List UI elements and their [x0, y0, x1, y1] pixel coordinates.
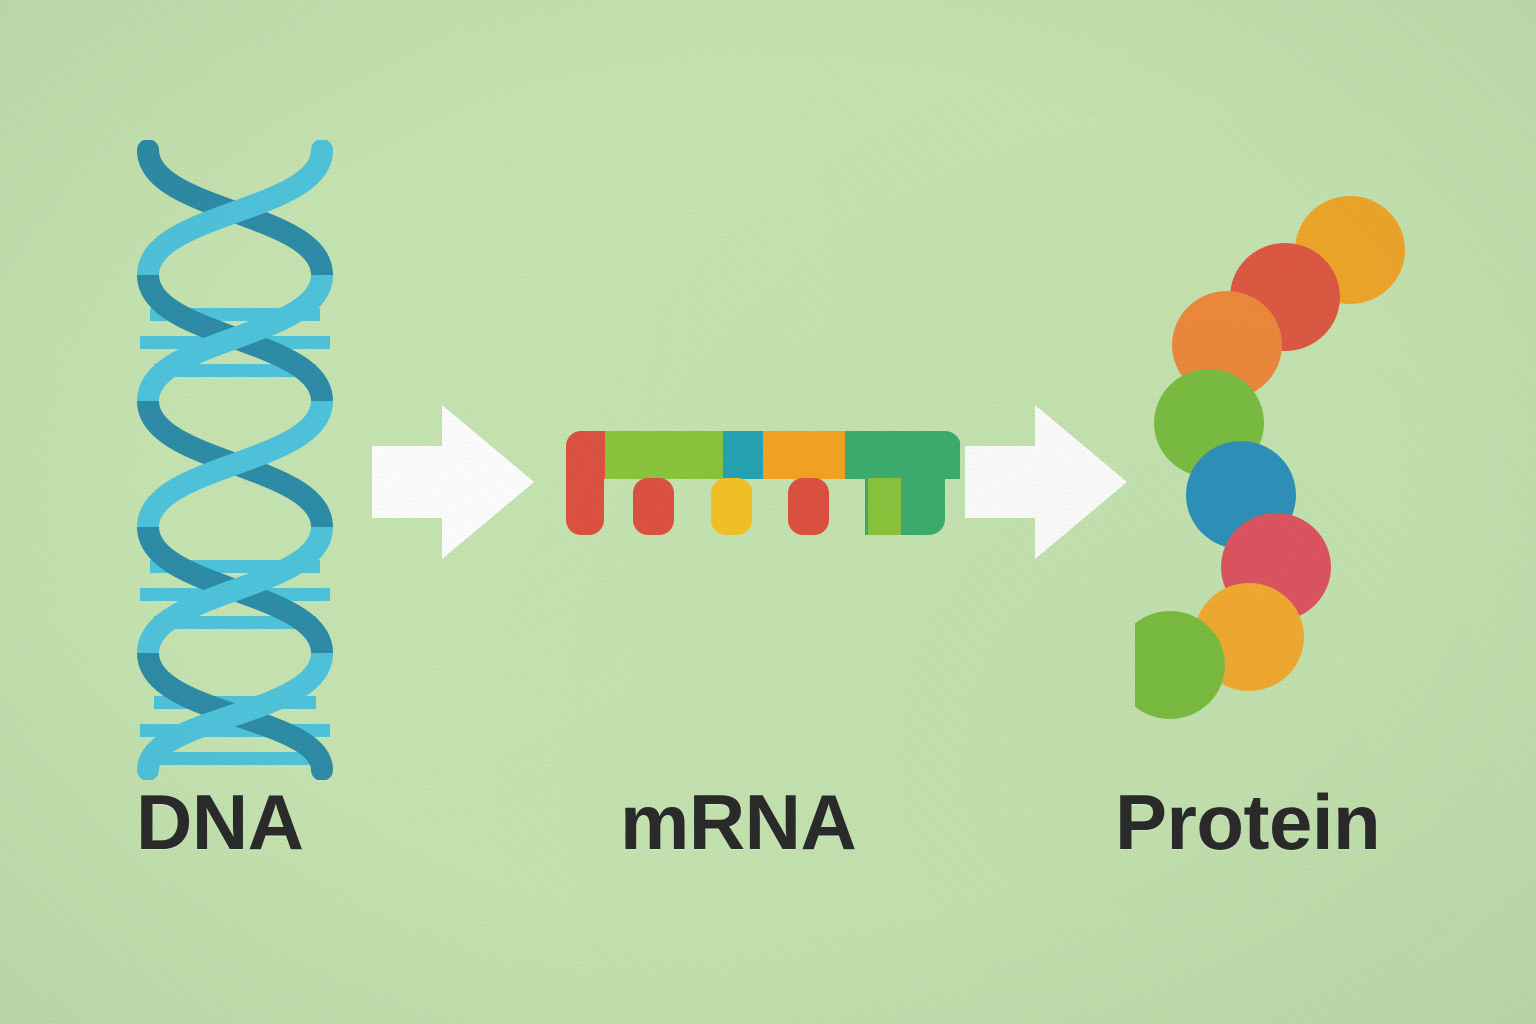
mrna-strand-icon	[560, 420, 960, 550]
label-dna: DNA	[136, 783, 304, 861]
dna-double-helix-icon	[110, 140, 360, 780]
label-protein: Protein	[1115, 783, 1380, 861]
arrow-right-icon	[372, 405, 534, 559]
arrow-right-icon	[965, 405, 1127, 559]
arrow-translation	[965, 400, 1130, 565]
central-dogma-diagram: DNA mRNA Protein	[0, 0, 1536, 1024]
protein-amino-acid-chain-icon	[1135, 185, 1425, 725]
label-mrna: mRNA	[620, 783, 856, 861]
arrow-transcription	[372, 400, 537, 565]
